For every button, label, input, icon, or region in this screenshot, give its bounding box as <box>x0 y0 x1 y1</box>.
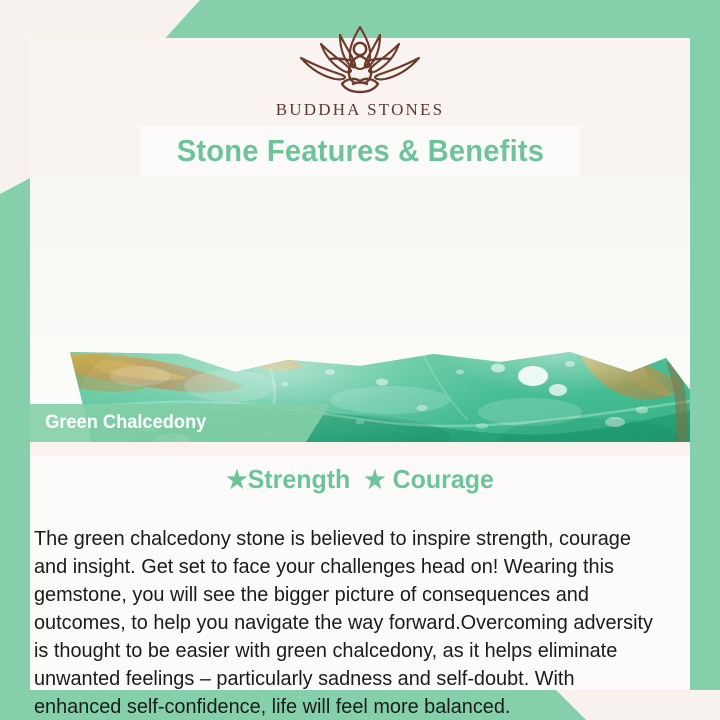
poster-root: BUDDHA STONES Stone Features & Benefits <box>0 0 720 720</box>
body-description: The green chalcedony stone is believed t… <box>34 525 666 720</box>
stone-photo-art <box>30 176 690 442</box>
virtue-strength-label: Strength <box>248 464 351 494</box>
brand-logo-block: BUDDHA STONES <box>0 22 720 120</box>
panel-top-stripe <box>30 442 690 456</box>
title-banner: Stone Features & Benefits <box>140 126 580 176</box>
stone-name-label: Green Chalcedony <box>34 412 207 434</box>
page-title: Stone Features & Benefits <box>176 133 543 169</box>
green-chalcedony-stone-photo <box>30 176 690 442</box>
frame-left-band <box>0 178 30 720</box>
virtues-heading: ★Strength ★ Courage <box>43 464 677 495</box>
star-icon: ★ <box>226 466 248 494</box>
photo-caption-band: Green Chalcedony <box>30 404 330 442</box>
virtue-courage-label: Courage <box>393 464 494 494</box>
brand-wordmark: BUDDHA STONES <box>0 100 720 120</box>
content-panel: ★Strength ★ Courage The green chalcedony… <box>30 442 690 690</box>
lotus-meditation-icon <box>285 22 435 94</box>
star-icon: ★ <box>364 466 386 494</box>
